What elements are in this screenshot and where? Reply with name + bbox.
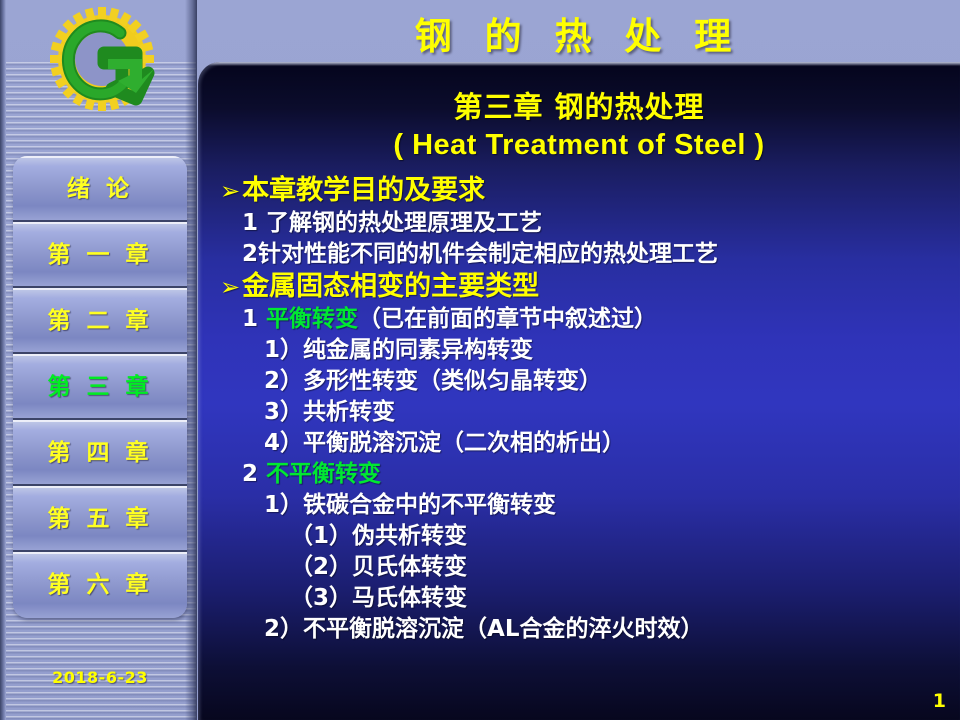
outline-heading: ➢本章教学目的及要求 bbox=[214, 174, 960, 208]
sidebar-item-label: 第 四 章 bbox=[47, 440, 152, 466]
outline-item-number: 1 bbox=[242, 210, 258, 236]
sidebar-item-label: 第 六 章 bbox=[47, 572, 152, 598]
outline-item-text: 纯金属的同素异构转变 bbox=[303, 337, 533, 363]
presentation-slide: 钢 的 热 处 理 绪 论 第 一 章 第 二 章 第 三 章 第 四 章 第 … bbox=[0, 0, 960, 720]
outline-item-number: 2 bbox=[242, 241, 258, 267]
outline-item: 4）平衡脱溶沉淀（二次相的析出） bbox=[214, 428, 960, 459]
outline-item-number: 1） bbox=[264, 337, 303, 363]
outline-item: 1）纯金属的同素异构转变 bbox=[214, 335, 960, 366]
slide-subtitle: ( Heat Treatment of Steel ) bbox=[198, 129, 960, 162]
outline-item-highlight: 平衡转变 bbox=[266, 306, 358, 332]
outline-item-text: 不平衡脱溶沉淀（AL合金的淬火时效） bbox=[303, 616, 703, 642]
outline-heading-label: 本章教学目的及要求 bbox=[242, 175, 485, 206]
sidebar-item-label: 第 三 章 bbox=[47, 374, 152, 400]
outline-item-text: 平衡脱溶沉淀（二次相的析出） bbox=[303, 430, 625, 456]
outline-item-number: 1） bbox=[264, 492, 303, 518]
sidebar-item-chapter-1[interactable]: 第 一 章 bbox=[13, 222, 187, 288]
sidebar-item-label: 第 一 章 bbox=[47, 242, 152, 268]
sidebar-item-chapter-4[interactable]: 第 四 章 bbox=[13, 420, 187, 486]
outline-item: 2针对性能不同的机件会制定相应的热处理工艺 bbox=[214, 239, 960, 270]
arrow-bullet-icon: ➢ bbox=[220, 177, 240, 205]
outline-item: （2）贝氏体转变 bbox=[214, 552, 960, 583]
outline-item: 1 了解钢的热处理原理及工艺 bbox=[214, 208, 960, 239]
outline-item-number: （2） bbox=[290, 554, 352, 580]
outline-item-number: （1） bbox=[290, 523, 352, 549]
sidebar-item-chapter-3[interactable]: 第 三 章 bbox=[13, 354, 187, 420]
outline-item-number: 2 bbox=[242, 461, 258, 487]
outline-item: （3）马氏体转变 bbox=[214, 583, 960, 614]
outline-item-text: （已在前面的章节中叙述过） bbox=[358, 306, 657, 332]
outline-item-number: 1 bbox=[242, 306, 258, 332]
outline-item-number: 2） bbox=[264, 368, 303, 394]
slide-outline: ➢本章教学目的及要求 1 了解钢的热处理原理及工艺 2针对性能不同的机件会制定相… bbox=[198, 174, 960, 645]
outline-item: 2）多形性转变（类似匀晶转变） bbox=[214, 366, 960, 397]
slide-number: 1 bbox=[933, 690, 946, 712]
outline-item-text: 贝氏体转变 bbox=[352, 554, 467, 580]
outline-item: 2）不平衡脱溶沉淀（AL合金的淬火时效） bbox=[214, 614, 960, 645]
outline-item: 1）铁碳合金中的不平衡转变 bbox=[214, 490, 960, 521]
outline-item: 3）共析转变 bbox=[214, 397, 960, 428]
outline-heading-label: 金属固态相变的主要类型 bbox=[242, 271, 539, 302]
outline-item-highlight: 不平衡转变 bbox=[266, 461, 381, 487]
sidebar-nav[interactable]: 绪 论 第 一 章 第 二 章 第 三 章 第 四 章 第 五 章 第 六 章 bbox=[13, 156, 187, 618]
left-edge-bevel bbox=[0, 0, 6, 720]
outline-item-text: 马氏体转变 bbox=[352, 585, 467, 611]
outline-item-number: （3） bbox=[290, 585, 352, 611]
outline-item-text: 针对性能不同的机件会制定相应的热处理工艺 bbox=[258, 241, 718, 267]
slide-date: 2018-6-23 bbox=[13, 668, 187, 687]
outline-item: （1）伪共析转变 bbox=[214, 521, 960, 552]
sidebar-item-label: 第 二 章 bbox=[47, 308, 152, 334]
sidebar-item-label: 第 五 章 bbox=[47, 506, 152, 532]
outline-item-number: 2） bbox=[264, 616, 303, 642]
slide-content-panel: 第三章 钢的热处理 ( Heat Treatment of Steel ) ➢本… bbox=[198, 62, 960, 720]
outline-item-number: 4） bbox=[264, 430, 303, 456]
sidebar-item-chapter-2[interactable]: 第 二 章 bbox=[13, 288, 187, 354]
gear-g-logo-icon bbox=[48, 3, 156, 115]
slide-title: 第三章 钢的热处理 bbox=[198, 84, 960, 126]
arrow-bullet-icon: ➢ bbox=[220, 273, 240, 301]
outline-item: 2 不平衡转变 bbox=[214, 459, 960, 490]
sidebar-item-chapter-5[interactable]: 第 五 章 bbox=[13, 486, 187, 552]
sidebar-item-intro[interactable]: 绪 论 bbox=[13, 156, 187, 222]
page-title: 钢 的 热 处 理 bbox=[196, 6, 960, 60]
outline-item-text: 了解钢的热处理原理及工艺 bbox=[266, 210, 542, 236]
outline-item: 1 平衡转变（已在前面的章节中叙述过） bbox=[214, 304, 960, 335]
outline-item-text: 伪共析转变 bbox=[352, 523, 467, 549]
outline-heading: ➢金属固态相变的主要类型 bbox=[214, 270, 960, 304]
sidebar-item-label: 绪 论 bbox=[67, 176, 133, 202]
panel-top-bevel bbox=[198, 62, 960, 66]
outline-item-number: 3） bbox=[264, 399, 303, 425]
outline-item-text: 铁碳合金中的不平衡转变 bbox=[303, 492, 556, 518]
outline-item-text: 共析转变 bbox=[303, 399, 395, 425]
sidebar-item-chapter-6[interactable]: 第 六 章 bbox=[13, 552, 187, 618]
outline-item-text: 多形性转变（类似匀晶转变） bbox=[303, 368, 602, 394]
